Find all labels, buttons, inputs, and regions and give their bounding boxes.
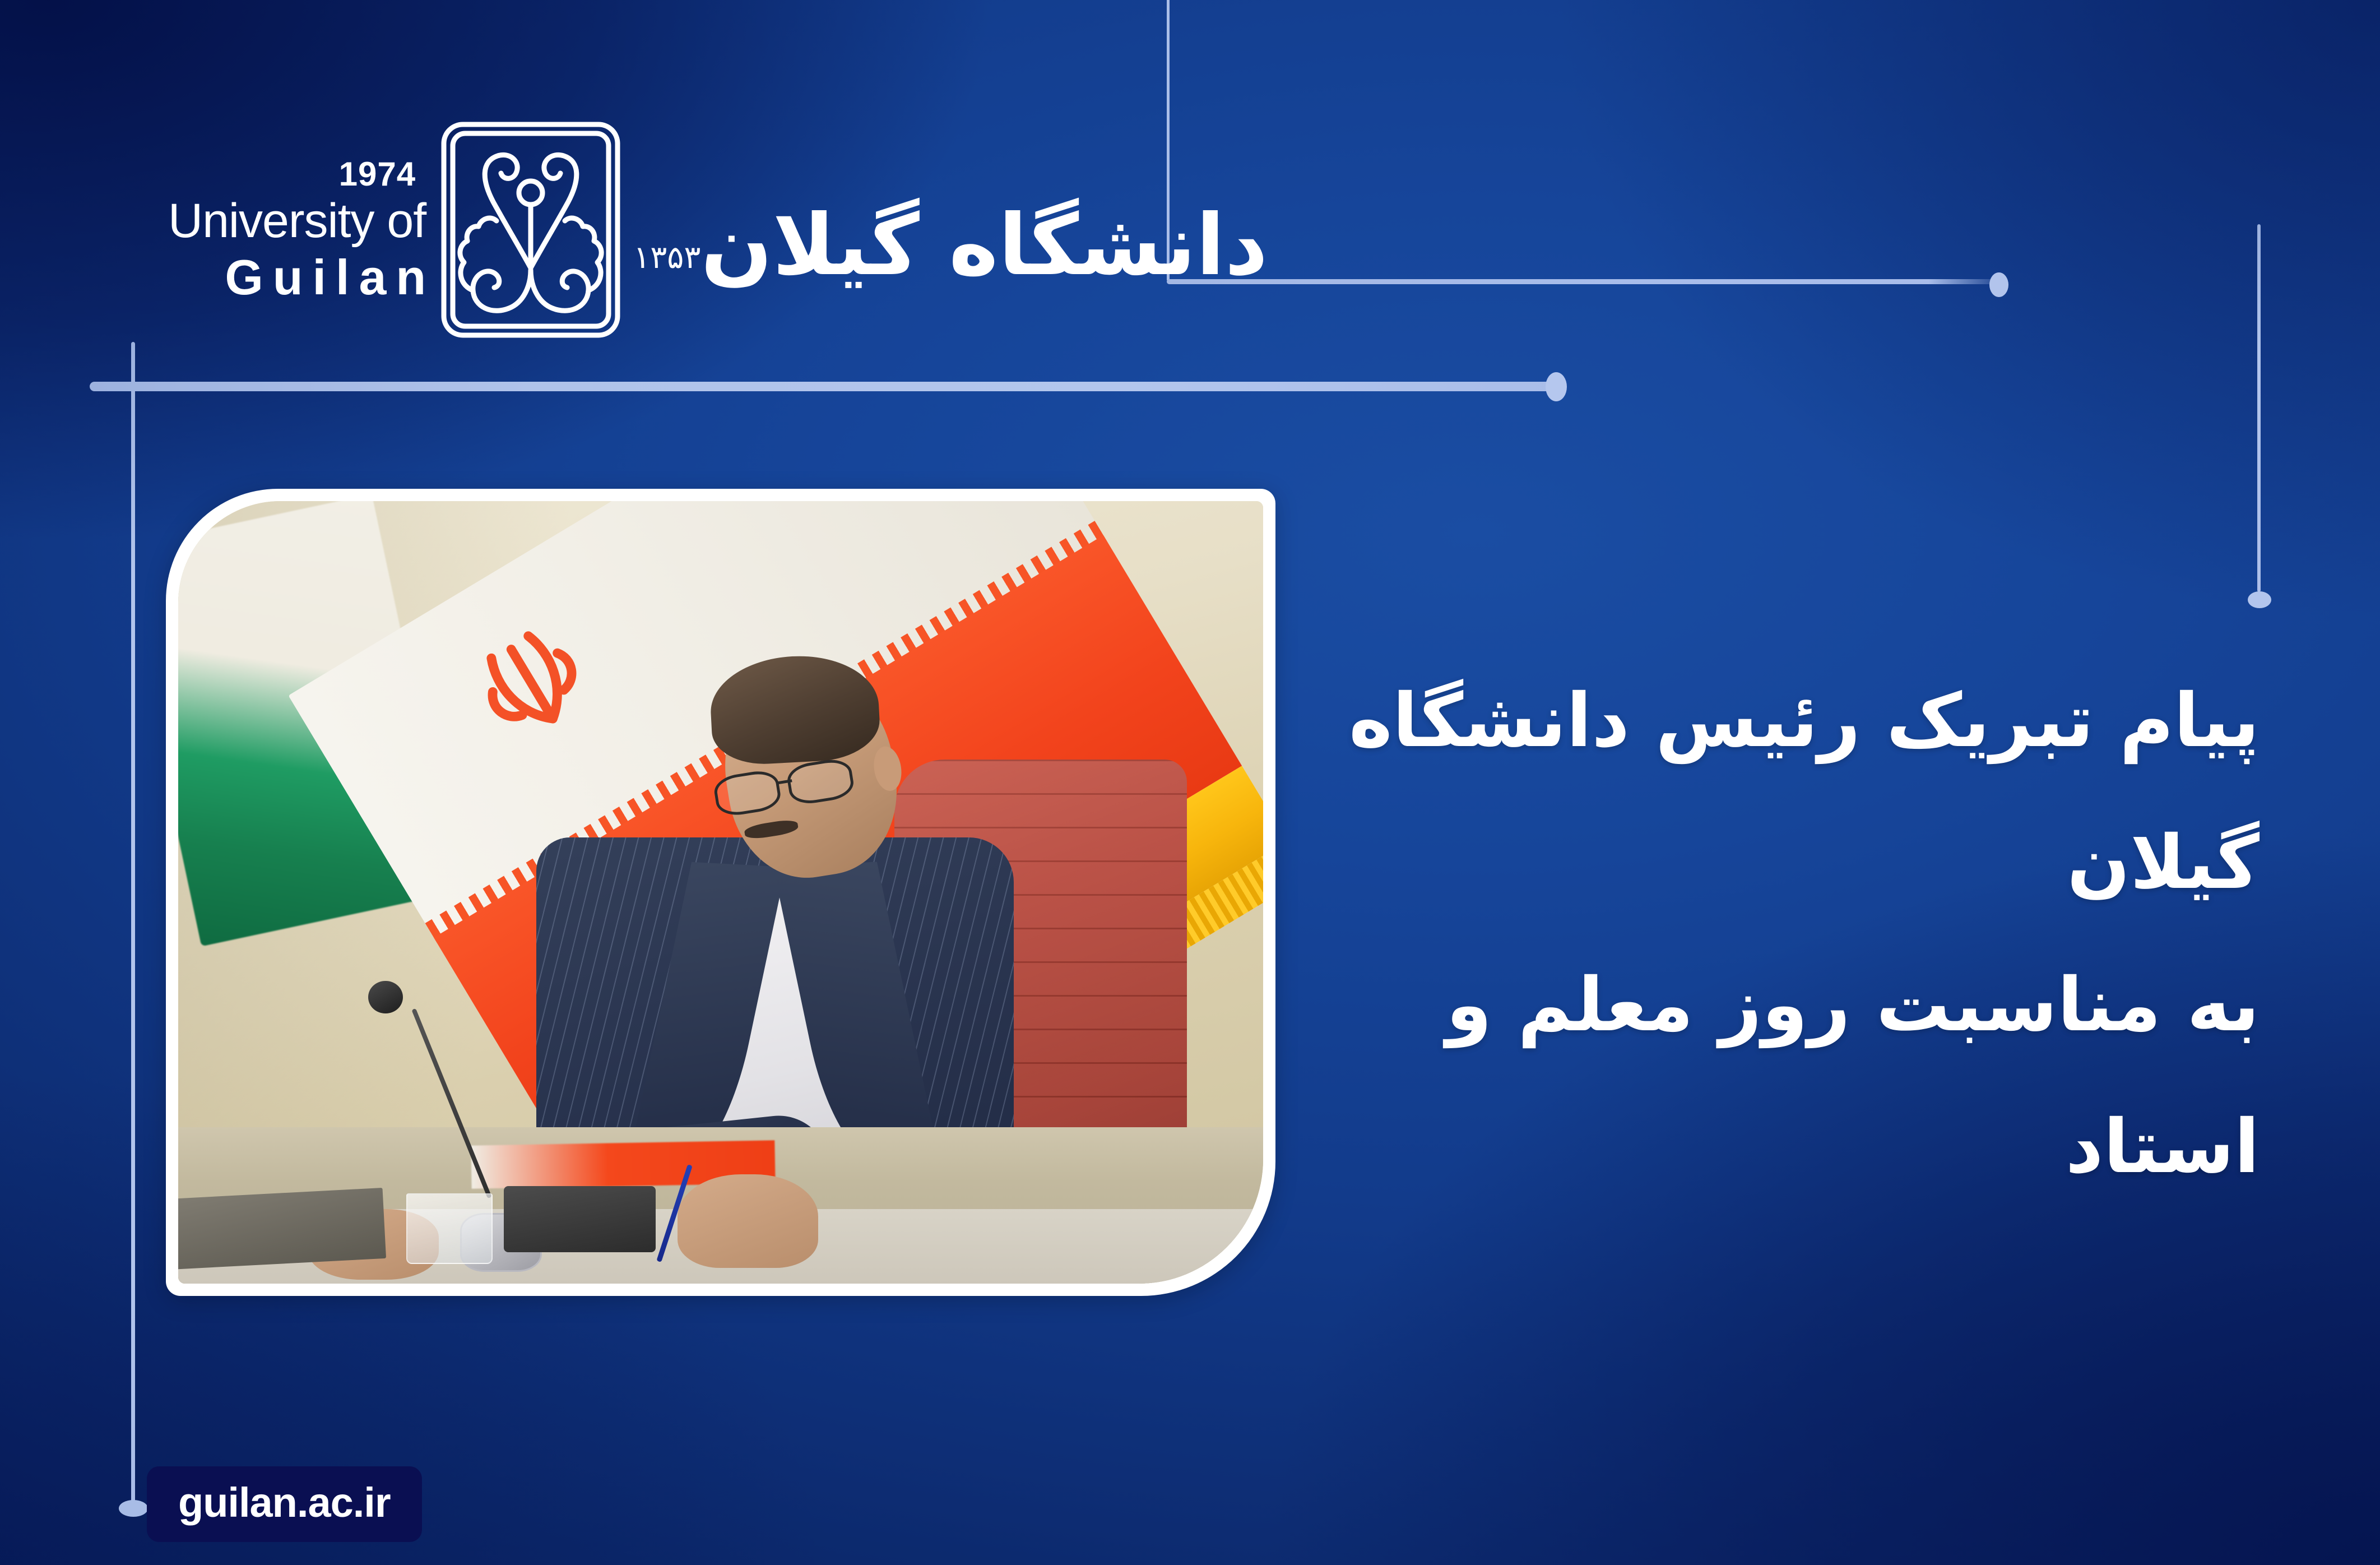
logo-english-text: 1974 University of Guilan bbox=[168, 158, 426, 302]
left-vertical-accent-line bbox=[131, 342, 135, 1515]
left-horizontal-accent-line bbox=[90, 382, 1558, 391]
website-url-badge[interactable]: guilan.ac.ir bbox=[147, 1466, 422, 1542]
person-writing-hand bbox=[678, 1174, 819, 1268]
accent-dot-far-right bbox=[2248, 591, 2271, 608]
top-horizontal-accent-line bbox=[1167, 279, 1995, 284]
accent-dot-mid-right bbox=[1546, 372, 1567, 401]
microphone-base bbox=[504, 1186, 656, 1253]
eyeglass-lens-right bbox=[785, 756, 856, 807]
logo-founding-year-fa: ۱۳۵۳ bbox=[633, 239, 700, 276]
logo-name-line2-en: Guilan bbox=[225, 253, 435, 302]
logo-name-line1-en: University of bbox=[168, 197, 426, 245]
title-line-2: به مناسبت روز معلم و استاد bbox=[1273, 934, 2260, 1219]
university-logo: 1974 University of Guilan bbox=[168, 118, 1268, 342]
logo-name-fa: دانشگاه گیلان bbox=[700, 203, 1268, 288]
desk-notebook bbox=[178, 1188, 386, 1270]
microphone-capsule bbox=[368, 981, 403, 1014]
poster-canvas: 1974 University of Guilan bbox=[0, 0, 2380, 1565]
desk-water-glass bbox=[406, 1193, 493, 1264]
right-vertical-accent-line bbox=[2257, 224, 2261, 592]
logo-founding-year-en: 1974 bbox=[339, 158, 416, 191]
guilan-university-emblem-icon bbox=[438, 118, 623, 342]
accent-dot-bottom-left bbox=[119, 1500, 148, 1517]
person-mustache bbox=[744, 818, 799, 841]
accent-dot-top-right bbox=[1989, 272, 2008, 297]
photo-card bbox=[166, 489, 1275, 1296]
logo-persian-text: ۱۳۵۳ دانشگاه گیلان bbox=[629, 172, 1268, 288]
photo-image bbox=[178, 501, 1263, 1284]
page-title: پیام تبریک رئیس دانشگاه گیلان به مناسبت … bbox=[1273, 650, 2260, 1219]
eyeglasses-icon bbox=[712, 755, 864, 818]
title-line-1: پیام تبریک رئیس دانشگاه گیلان bbox=[1273, 650, 2260, 934]
